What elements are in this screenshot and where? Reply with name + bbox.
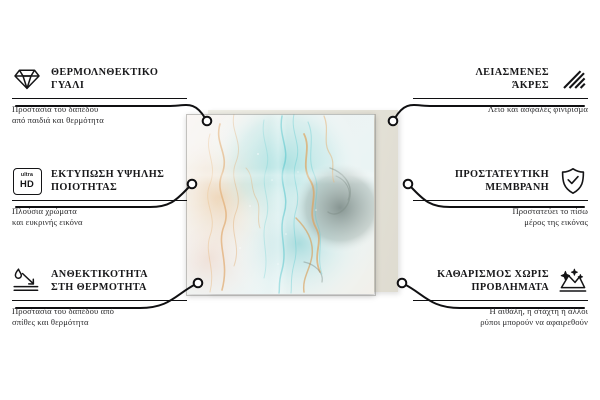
- feature-header: ΘΕΡΜΟΛΝΘΕΚΤΙΚΟ ΓΥΑΛΙ: [12, 64, 187, 94]
- feature-title-line1: ΚΑΘΑΡΙΣΜΟΣ ΧΩΡΙΣ: [437, 269, 549, 280]
- feature-header: ultra HD ΕΚΤΥΠΩΣΗ ΥΨΗΛΗΣ ΠΟΙΟΤΗΤΑΣ: [12, 166, 187, 196]
- marble-artwork: [186, 114, 374, 294]
- feature-title: ΑΝΘΕΚΤΙΚΟΤΗΤΑ ΣΤΗ ΘΕΡΜΟΤΗΤΑ: [51, 268, 148, 294]
- feature-easy-cleaning: ΚΑΘΑΡΙΣΜΟΣ ΧΩΡΙΣ ΠΡΟΒΛΗΜΑΤΑ Η αιθάλη, η …: [413, 266, 588, 329]
- feature-header: ΠΡΟΣΤΑΤΕΥΤΙΚΗ ΜΕΜΒΡΑΝΗ: [413, 166, 588, 196]
- feature-desc-line2: από παιδιά και θερμότητα: [12, 115, 104, 125]
- hd-badge: ultra HD: [13, 168, 42, 195]
- feature-title: ΛΕΙΑΣΜΕΝΕΣ ΆΚΡΕΣ: [475, 66, 549, 92]
- feature-title: ΚΑΘΑΡΙΣΜΟΣ ΧΩΡΙΣ ΠΡΟΒΛΗΜΑΤΑ: [437, 268, 549, 294]
- feature-title: ΘΕΡΜΟΛΝΘΕΚΤΙΚΟ ΓΥΑΛΙ: [51, 66, 158, 92]
- feature-description: Λείο και ασφαλές φινίρισμα: [413, 104, 588, 115]
- feature-title: ΕΚΤΥΠΩΣΗ ΥΨΗΛΗΣ ΠΟΙΟΤΗΤΑΣ: [51, 168, 164, 194]
- diagonal-stripes-icon: [558, 64, 588, 94]
- feature-description: Προστατεύει το πίσω μέρος της εικόνας: [413, 206, 588, 229]
- feature-description: Η αιθάλη, η στάχτη ή άλλοι ρύποι μπορούν…: [413, 306, 588, 329]
- feature-title-line2: ΓΥΑΛΙ: [51, 80, 84, 91]
- ultra-hd-badge-icon: ultra HD: [12, 166, 42, 196]
- feature-desc-line1: Προστατεύει το πίσω: [512, 206, 588, 216]
- feature-divider: [12, 300, 187, 301]
- feature-desc-line1: Προστασία του δαπέδου από: [12, 306, 114, 316]
- feature-divider: [12, 200, 187, 201]
- feature-title-line2: ΣΤΗ ΘΕΡΜΟΤΗΤΑ: [51, 282, 147, 293]
- feature-title: ΠΡΟΣΤΑΤΕΥΤΙΚΗ ΜΕΜΒΡΑΝΗ: [455, 168, 549, 194]
- feature-header: ΛΕΙΑΣΜΕΝΕΣ ΆΚΡΕΣ: [413, 64, 588, 94]
- feature-header: ΑΝΘΕΚΤΙΚΟΤΗΤΑ ΣΤΗ ΘΕΡΜΟΤΗΤΑ: [12, 266, 187, 296]
- feature-desc-line1: Προστασία του δαπέδου: [12, 104, 98, 114]
- feature-description: Προστασία του δαπέδου από σπίθες και θερ…: [12, 306, 187, 329]
- feature-polished-edges: ΛΕΙΑΣΜΕΝΕΣ ΆΚΡΕΣ Λείο και ασφαλές φινίρι…: [413, 64, 588, 115]
- feature-title-line1: ΕΚΤΥΠΩΣΗ ΥΨΗΛΗΣ: [51, 169, 164, 180]
- feature-protective-membrane: ΠΡΟΣΤΑΤΕΥΤΙΚΗ ΜΕΜΒΡΑΝΗ Προστατεύει το πί…: [413, 166, 588, 229]
- feature-desc-line2: σπίθες και θερμότητα: [12, 317, 89, 327]
- product-image: [186, 112, 402, 298]
- feature-header: ΚΑΘΑΡΙΣΜΟΣ ΧΩΡΙΣ ΠΡΟΒΛΗΜΑΤΑ: [413, 266, 588, 296]
- feature-title-line2: ΆΚΡΕΣ: [512, 80, 549, 91]
- feature-desc-line2: μέρος της εικόνας: [524, 217, 588, 227]
- feature-desc-line2: ρύποι μπορούν να αφαιρεθούν: [480, 317, 588, 327]
- diamond-icon: [12, 64, 42, 94]
- infographic-canvas: ΘΕΡΜΟΛΝΘΕΚΤΙΚΟ ΓΥΑΛΙ Προστασία του δαπέδ…: [0, 0, 600, 400]
- feature-description: Προστασία του δαπέδου από παιδιά και θερ…: [12, 104, 187, 127]
- feature-desc-line2: και ευκρινής εικόνα: [12, 217, 83, 227]
- feature-title-line1: ΑΝΘΕΚΤΙΚΟΤΗΤΑ: [51, 269, 148, 280]
- feature-divider: [413, 300, 588, 301]
- feature-desc-line1: Πλούσια χρώματα: [12, 206, 77, 216]
- feature-title-line2: ΠΟΙΟΤΗΤΑΣ: [51, 182, 117, 193]
- feature-divider: [12, 98, 187, 99]
- connector-dot-5: [404, 180, 413, 189]
- feature-title-line2: ΜΕΜΒΡΑΝΗ: [485, 182, 549, 193]
- feature-heat-durability: ΑΝΘΕΚΤΙΚΟΤΗΤΑ ΣΤΗ ΘΕΡΜΟΤΗΤΑ Προστασία το…: [12, 266, 187, 329]
- feature-high-quality-print: ultra HD ΕΚΤΥΠΩΣΗ ΥΨΗΛΗΣ ΠΟΙΟΤΗΤΑΣ Πλούσ…: [12, 166, 187, 229]
- feature-title-line1: ΘΕΡΜΟΛΝΘΕΚΤΙΚΟ: [51, 67, 158, 78]
- feature-title-line1: ΛΕΙΑΣΜΕΝΕΣ: [475, 67, 549, 78]
- feature-title-line2: ΠΡΟΒΛΗΜΑΤΑ: [471, 282, 549, 293]
- feature-divider: [413, 200, 588, 201]
- shield-check-icon: [558, 166, 588, 196]
- feature-desc-line1: Λείο και ασφαλές φινίρισμα: [488, 104, 588, 114]
- feature-heat-resistant-glass: ΘΕΡΜΟΛΝΘΕΚΤΙΚΟ ΓΥΑΛΙ Προστασία του δαπέδ…: [12, 64, 187, 127]
- product-glass-panel: [186, 114, 374, 294]
- feature-desc-line1: Η αιθάλη, η στάχτη ή άλλοι: [490, 306, 589, 316]
- hd-badge-bottom: HD: [20, 179, 34, 189]
- feature-title-line1: ΠΡΟΣΤΑΤΕΥΤΙΚΗ: [455, 169, 549, 180]
- feature-divider: [413, 98, 588, 99]
- flame-on-surface-icon: [12, 266, 42, 296]
- feature-description: Πλούσια χρώματα και ευκρινής εικόνα: [12, 206, 187, 229]
- sparkle-cloth-icon: [558, 266, 588, 296]
